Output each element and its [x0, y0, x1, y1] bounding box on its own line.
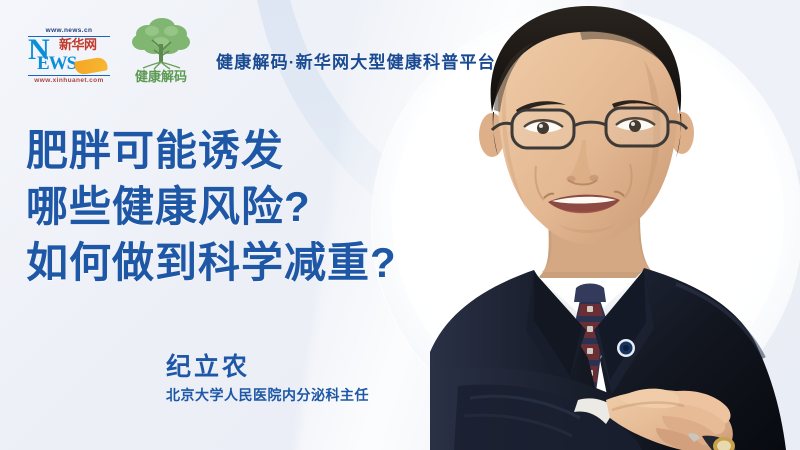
xinhua-logo-letters-ews: EWS — [37, 54, 76, 73]
title-line-2: 哪些健康风险? — [26, 179, 397, 235]
xinhua-news-logo[interactable]: www.news.cn N EWS 新华网 www.xinhuanet.com — [28, 27, 110, 83]
xinhua-logo-bottom-url: www.xinhuanet.com — [28, 75, 110, 85]
speaker-credit: 纪立农 北京大学人民医院内分泌科主任 — [166, 352, 369, 404]
speaker-name: 纪立农 — [166, 352, 369, 382]
speaker-portrait — [430, 0, 800, 450]
title-line-3: 如何做到科学减重? — [26, 235, 397, 291]
poster-title: 肥胖可能诱发 哪些健康风险? 如何做到科学减重? — [26, 123, 397, 291]
tree-icon — [128, 18, 194, 70]
xinhua-logo-mark: N EWS 新华网 — [28, 37, 110, 75]
xinhua-swoosh-icon — [74, 56, 108, 76]
speaker-role: 北京大学人民医院内分泌科主任 — [166, 386, 369, 404]
health-decode-logo-label: 健康解码 — [122, 66, 200, 85]
xinhua-logo-chinese: 新华网 — [59, 38, 97, 52]
health-poster: www.news.cn N EWS 新华网 www.xinhuanet.com — [0, 0, 800, 450]
title-line-1: 肥胖可能诱发 — [26, 123, 397, 179]
health-decode-logo[interactable]: 健康解码 — [122, 18, 200, 88]
